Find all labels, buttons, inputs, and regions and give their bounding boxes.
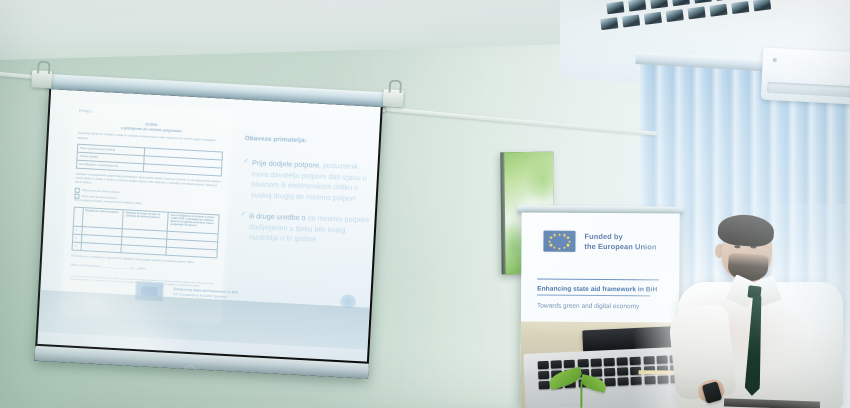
doc-info-table: Naziv gospodarskog subjekta Adresa sjedi… [76,143,223,176]
check-icon: ✓ [239,211,246,243]
banner-project-subtitle: Towards green and digital economy [537,303,679,311]
screen-hook-icon [37,60,51,74]
slide-bullet-list: Obaveze primatelja: ✓ Prije dodjele potp… [239,134,377,260]
projected-slide: Prilog 1. IZJAVA o primljenim de minimis… [37,89,380,361]
banner-photo [520,321,679,408]
ac-indicator-icon [773,58,777,62]
screen-bracket-left [31,70,52,88]
presenter [672,214,850,408]
banner-funded-line2: the European Union [584,241,656,251]
bullet-text-a: Prije dodjele potpore, [252,158,323,169]
ac-vent [767,82,850,97]
screen-hook-icon [389,79,403,93]
presenter-hair [717,213,775,248]
screen-surface: Prilog 1. IZJAVA o primljenim de minimis… [34,89,382,379]
doc-aid-table: Davatelj de minimis potpore Namjena ili … [72,206,220,258]
doc-annex-label: Prilog 1. [79,109,225,121]
slide-bullet-heading: Obaveze primatelja: [245,135,377,147]
list-item: ✓ ili druge uredbe o de minimis potpore … [239,211,372,247]
bullet-text-a: ili druge uredbe o [249,212,308,223]
list-item: ✓ Prije dodjele potpore, poduzetnik mora… [242,158,375,205]
screen-pull-ring-icon [184,365,196,377]
projection-screen: Prilog 1. IZJAVA o primljenim de minimis… [31,74,392,398]
banner-eu-block: Funded by the European Union [521,212,679,252]
banner-project-title: Enhancing state aid framework in BiH [537,286,679,294]
banner-funded-line1: Funded by [584,232,656,242]
check-icon: ✓ [242,158,249,200]
screen-bracket-right [383,89,404,107]
doc-aid-th-1: Davatelj de minimis potpore [82,207,124,228]
rollup-banner: Funded by the European Union Enhancing s… [520,212,679,408]
plant-sprout-icon [546,356,616,408]
eu-flag-icon [543,231,575,252]
doc-aid-th-2: Namjena ili propis na koju se odnosila d… [123,209,169,230]
presentation-room-photo: Prilog 1. IZJAVA o primljenim de minimis… [0,0,850,408]
checkbox-icon [75,188,80,193]
banner-divider [537,279,659,281]
air-conditioner-unit [761,48,850,105]
banner-title-underline [537,295,650,297]
